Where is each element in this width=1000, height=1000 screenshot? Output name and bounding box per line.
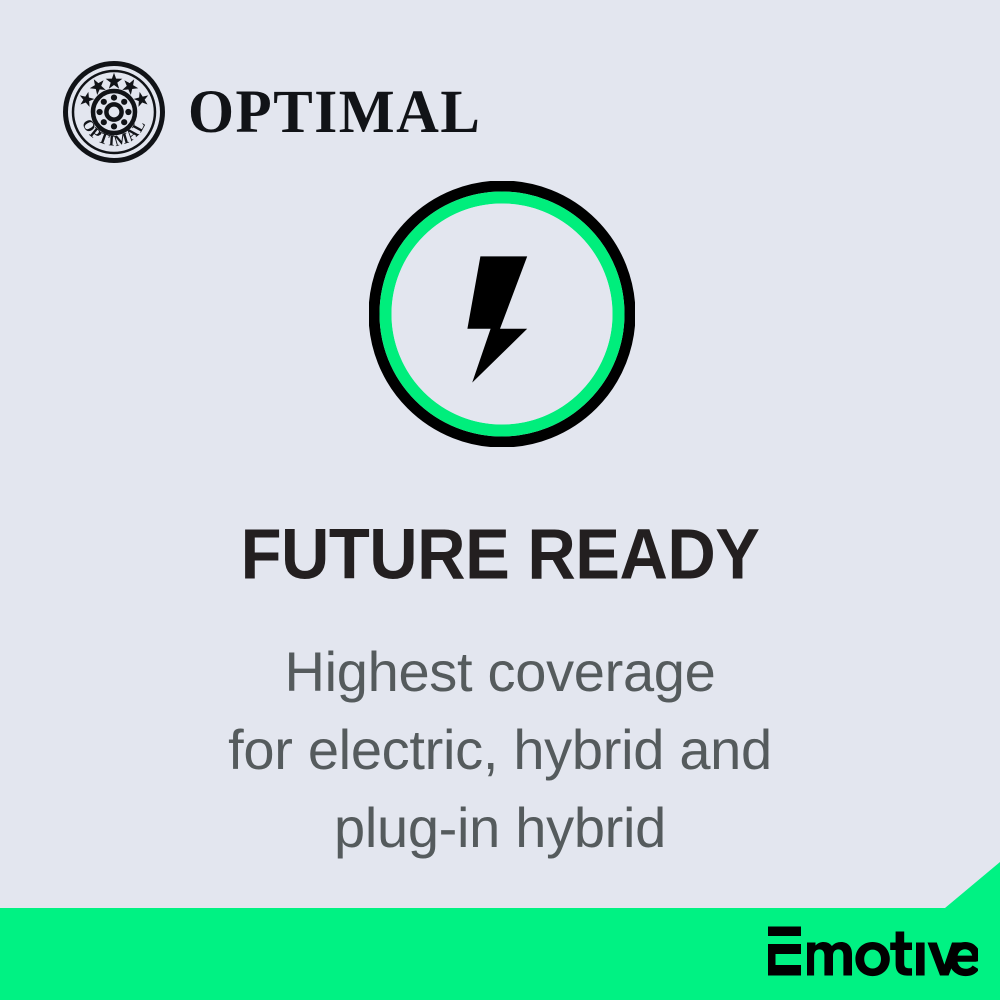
page-title: FUTURE READY [0, 519, 1000, 590]
subhead-line-1: Highest coverage [0, 633, 1000, 711]
subhead-line-2: for electric, hybrid and [0, 711, 1000, 789]
lightning-bolt-in-circle-icon [369, 181, 635, 447]
brand-header: OPTIMAL OPTIMAL [62, 60, 476, 164]
subhead-text: Highest coverage for electric, hybrid an… [0, 633, 1000, 867]
brand-wordmark: OPTIMAL [188, 81, 481, 142]
promo-card: OPTIMAL OPTIMAL [0, 0, 1000, 1000]
subhead-line-3: plug-in hybrid [0, 789, 1000, 867]
optimal-badge-seal-icon: OPTIMAL [62, 60, 166, 164]
emotive-wordmark-logo [766, 925, 978, 977]
